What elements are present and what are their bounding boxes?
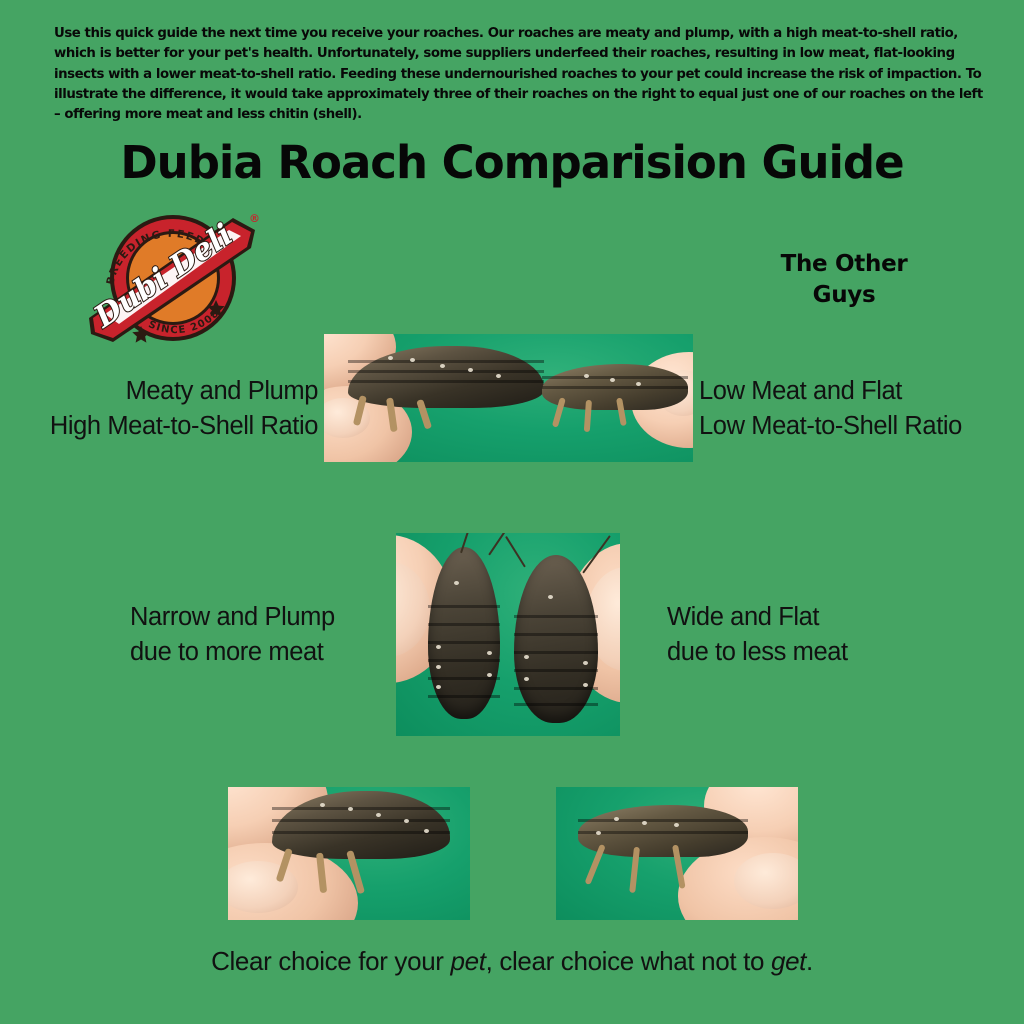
intro-paragraph: Use this quick guide the next time you r…: [54, 24, 988, 125]
closing-part3: .: [806, 946, 813, 976]
caption-row2-right-line1: Wide and Flat: [667, 600, 927, 635]
logo-graphic: BREEDING FEEDERS SINCE 2008 Dubi Deli: [83, 208, 265, 348]
caption-row2-left-line1: Narrow and Plump: [130, 600, 380, 635]
caption-row1-right-line1: Low Meat and Flat: [699, 374, 1019, 409]
brand-logo[interactable]: BREEDING FEEDERS SINCE 2008 Dubi Deli: [83, 208, 265, 348]
photo-row1-side-by-side: [324, 334, 693, 462]
logo-trademark-icon: ®: [249, 212, 260, 225]
closing-italic-get: get: [771, 946, 806, 976]
caption-row1-left: Meaty and Plump High Meat-to-Shell Ratio: [8, 374, 318, 444]
page-title: Dubia Roach Comparision Guide: [0, 136, 1024, 189]
closing-caption: Clear choice for your pet, clear choice …: [0, 946, 1024, 977]
caption-row2-right-line2: due to less meat: [667, 635, 927, 670]
competitor-heading-line2: Guys: [728, 280, 960, 311]
closing-italic-pet: pet: [450, 946, 485, 976]
closing-part2: , clear choice what not to: [486, 946, 771, 976]
caption-row1-right-line2: Low Meat-to-Shell Ratio: [699, 409, 1019, 444]
caption-row2-left-line2: due to more meat: [130, 635, 380, 670]
competitor-heading-line1: The Other: [728, 249, 960, 280]
caption-row1-left-line2: High Meat-to-Shell Ratio: [8, 409, 318, 444]
caption-row1-right: Low Meat and Flat Low Meat-to-Shell Rati…: [699, 374, 1019, 444]
caption-row2-right: Wide and Flat due to less meat: [667, 600, 927, 670]
competitor-heading: The Other Guys: [728, 249, 960, 311]
photo-row3-left-plump: [228, 787, 470, 920]
photo-row2-top-down: [396, 533, 620, 736]
closing-part1: Clear choice for your: [211, 946, 450, 976]
caption-row2-left: Narrow and Plump due to more meat: [130, 600, 380, 670]
photo-row3-right-flat: [556, 787, 798, 920]
infographic-poster: Use this quick guide the next time you r…: [0, 0, 1024, 1024]
caption-row1-left-line1: Meaty and Plump: [8, 374, 318, 409]
